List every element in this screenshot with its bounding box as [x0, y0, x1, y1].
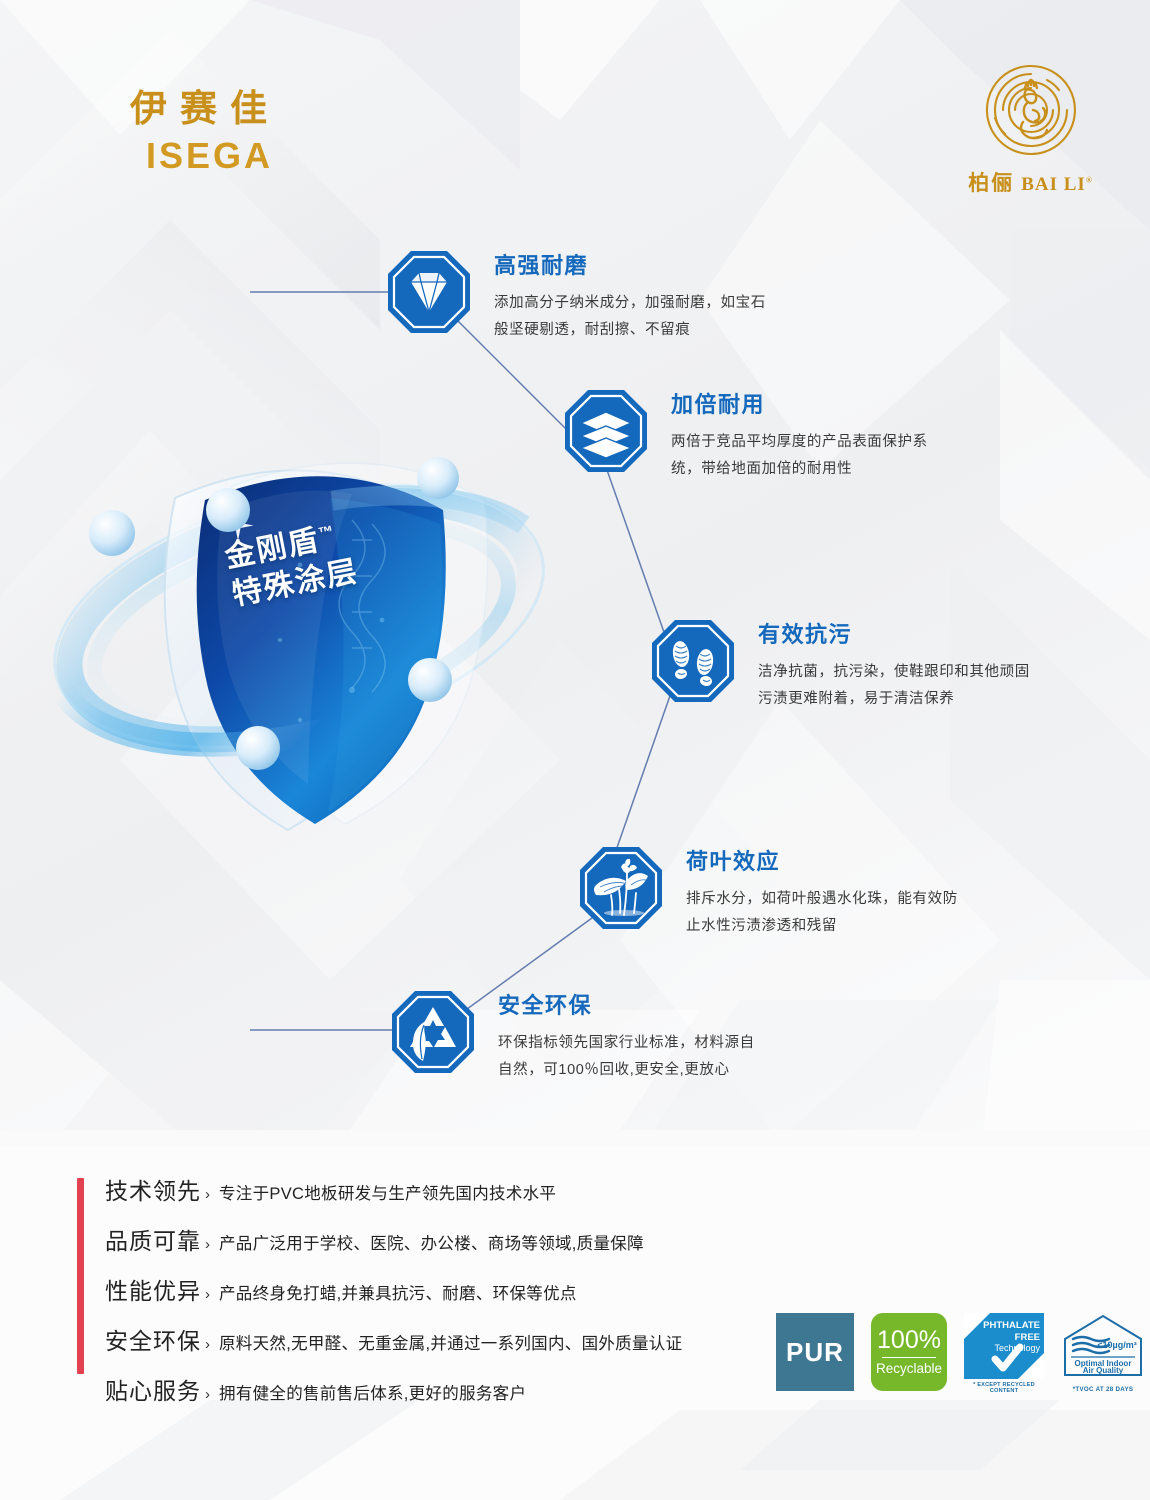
- feature-item-2[interactable]: 有效抗污 洁净抗菌，抗污染，使鞋跟印和其他顽固 污渍更难附着，易于清洁保养: [650, 618, 1030, 713]
- logo-text: 柏俪 BAI LI®: [963, 167, 1098, 197]
- advantage-desc-3: 原料天然,无甲醛、无重金属,并通过一系列国内、国外质量认证: [219, 1330, 682, 1354]
- feature-title-3: 荷叶效应: [686, 849, 958, 875]
- pur-badge-box: PUR: [776, 1313, 854, 1391]
- chevron-right-icon: ›: [205, 1336, 210, 1353]
- trademark-icon: ™: [317, 522, 337, 542]
- certification-badges: PUR 100% Recyclable PHTHALATE FREE Techn…: [776, 1313, 1145, 1394]
- brand-name-cn: 伊赛佳: [130, 88, 280, 131]
- advantage-row-3[interactable]: 安全环保 › 原料天然,无甲醛、无重金属,并通过一系列国内、国外质量认证: [105, 1322, 682, 1356]
- recyclable-badge-box: 100% Recyclable: [871, 1313, 947, 1391]
- pur-label: PUR: [786, 1337, 844, 1368]
- feature-desc-2: 洁净抗菌，抗污染，使鞋跟印和其他顽固 污渍更难附着，易于清洁保养: [758, 659, 1030, 713]
- cert-indoor-air-quality: <10µg/m³ Optimal Indoor Air Quality *TVO…: [1061, 1313, 1145, 1393]
- feature-badge-3: [578, 845, 664, 931]
- advantage-title-4: 贴心服务: [105, 1372, 201, 1406]
- feature-desc-4: 环保指标领先国家行业标准，材料源自 自然，可100％回收,更安全,更放心: [498, 1030, 755, 1084]
- feature-badge-1: [563, 388, 649, 474]
- house-air-quality-icon: <10µg/m³ Optimal Indoor Air Quality: [1061, 1313, 1145, 1379]
- logo-name-cn: 柏俪: [968, 167, 1014, 197]
- advantage-row-2[interactable]: 性能优异 › 产品终身免打蜡,并兼具抗污、耐磨、环保等优点: [105, 1272, 682, 1306]
- advantage-title-1: 品质可靠: [105, 1222, 201, 1256]
- shield-graphic: 金刚盾™ 特殊涂层: [60, 430, 560, 820]
- feature-text-1: 加倍耐用 两倍于竞品平均厚度的产品表面保护系 统，带给地面加倍的耐用性: [671, 388, 928, 483]
- phthalate-footnote: * EXCEPT RECYCLED CONTENT: [964, 1382, 1044, 1394]
- phthalate-text: PHTHALATE FREE Technology: [983, 1320, 1040, 1354]
- shield-line1: 金刚盾™: [222, 515, 355, 577]
- feature-badge-2: [650, 618, 736, 704]
- phthalate-line3: Technology: [983, 1343, 1040, 1354]
- cert-phthalate-free: PHTHALATE FREE Technology * EXCEPT RECYC…: [964, 1313, 1044, 1394]
- feature-badge-0: [386, 249, 472, 335]
- recyclable-percent: 100%: [877, 1328, 941, 1353]
- advantage-row-1[interactable]: 品质可靠 › 产品广泛用于学校、医院、办公楼、商场等领域,质量保障: [105, 1222, 682, 1256]
- shield-line2: 特殊涂层: [229, 553, 362, 615]
- feature-title-1: 加倍耐用: [671, 392, 928, 418]
- diamond-icon: [386, 249, 472, 335]
- chevron-right-icon: ›: [205, 1236, 210, 1253]
- feature-badge-4: [390, 989, 476, 1075]
- air-quality-value: <10µg/m³: [1097, 1340, 1136, 1350]
- feature-item-0[interactable]: 高强耐磨 添加高分子纳米成分，加强耐磨，如宝石 般坚硬剔透，耐刮擦、不留痕: [386, 249, 766, 344]
- chevron-right-icon: ›: [205, 1186, 210, 1203]
- shield-label: 金刚盾™ 特殊涂层: [222, 515, 362, 615]
- advantages-list: 技术领先 › 专注于PVC地板研发与生产领先国内技术水平 品质可靠 › 产品广泛…: [77, 1172, 682, 1422]
- feature-item-4[interactable]: 安全环保 环保指标领先国家行业标准，材料源自 自然，可100％回收,更安全,更放…: [390, 989, 755, 1084]
- feature-text-4: 安全环保 环保指标领先国家行业标准，材料源自 自然，可100％回收,更安全,更放…: [498, 989, 755, 1084]
- advantage-title-3: 安全环保: [105, 1322, 201, 1356]
- divider: [882, 1357, 936, 1359]
- feature-desc-0: 添加高分子纳米成分，加强耐磨，如宝石 般坚硬剔透，耐刮擦、不留痕: [494, 290, 766, 344]
- feature-text-3: 荷叶效应 排斥水分，如荷叶般遇水化珠，能有效防 止水性污渍渗透和残留: [686, 845, 958, 940]
- layers-icon: [563, 388, 649, 474]
- peacock-fingerprint-logo-icon: [981, 60, 1081, 160]
- feature-desc-1: 两倍于竞品平均厚度的产品表面保护系 统，带给地面加倍的耐用性: [671, 429, 928, 483]
- chevron-right-icon: ›: [205, 1286, 210, 1303]
- brand-title: 伊赛佳 ISEGA: [130, 88, 280, 177]
- advantage-row-0[interactable]: 技术领先 › 专注于PVC地板研发与生产领先国内技术水平: [105, 1172, 682, 1206]
- feature-item-3[interactable]: 荷叶效应 排斥水分，如荷叶般遇水化珠，能有效防 止水性污渍渗透和残留: [578, 845, 958, 940]
- feature-text-2: 有效抗污 洁净抗菌，抗污染，使鞋跟印和其他顽固 污渍更难附着，易于清洁保养: [758, 618, 1030, 713]
- footprints-icon: [650, 618, 736, 704]
- advantage-desc-4: 拥有健全的售前售后体系,更好的服务客户: [219, 1380, 526, 1404]
- air-quality-footnote: *TVOC AT 28 DAYS: [1061, 1386, 1145, 1393]
- advantage-desc-2: 产品终身免打蜡,并兼具抗污、耐磨、环保等优点: [219, 1280, 577, 1304]
- phthalate-line2: FREE: [983, 1332, 1040, 1344]
- phthalate-badge-box: PHTHALATE FREE Technology: [964, 1313, 1044, 1379]
- advantage-row-4[interactable]: 贴心服务 › 拥有健全的售前售后体系,更好的服务客户: [105, 1372, 682, 1406]
- feature-item-1[interactable]: 加倍耐用 两倍于竞品平均厚度的产品表面保护系 统，带给地面加倍的耐用性: [563, 388, 928, 483]
- advantage-title-0: 技术领先: [105, 1172, 201, 1206]
- logo-name-en: BAI LI®: [1021, 174, 1093, 196]
- feature-title-0: 高强耐磨: [494, 253, 766, 279]
- recyclable-label: Recyclable: [876, 1361, 942, 1376]
- brand-name-en: ISEGA: [146, 135, 280, 177]
- registered-mark-icon: ®: [1086, 176, 1093, 185]
- company-logo: 柏俪 BAI LI®: [963, 60, 1098, 197]
- recycle-leaf-icon: [390, 989, 476, 1075]
- feature-title-2: 有效抗污: [758, 622, 1030, 648]
- chevron-right-icon: ›: [205, 1386, 210, 1403]
- advantage-title-2: 性能优异: [105, 1272, 201, 1306]
- feature-desc-3: 排斥水分，如荷叶般遇水化珠，能有效防 止水性污渍渗透和残留: [686, 886, 958, 940]
- lotus-leaf-icon: [578, 845, 664, 931]
- feature-text-0: 高强耐磨 添加高分子纳米成分，加强耐磨，如宝石 般坚硬剔透，耐刮擦、不留痕: [494, 249, 766, 344]
- air-quality-line2: Air Quality: [1083, 1366, 1124, 1375]
- phthalate-line1: PHTHALATE: [983, 1320, 1040, 1332]
- feature-title-4: 安全环保: [498, 993, 755, 1019]
- cert-recyclable: 100% Recyclable: [871, 1313, 947, 1391]
- advantages-accent-bar: [77, 1178, 84, 1374]
- advantage-desc-0: 专注于PVC地板研发与生产领先国内技术水平: [219, 1180, 556, 1204]
- advantage-desc-1: 产品广泛用于学校、医院、办公楼、商场等领域,质量保障: [219, 1230, 644, 1254]
- cert-pur: PUR: [776, 1313, 854, 1391]
